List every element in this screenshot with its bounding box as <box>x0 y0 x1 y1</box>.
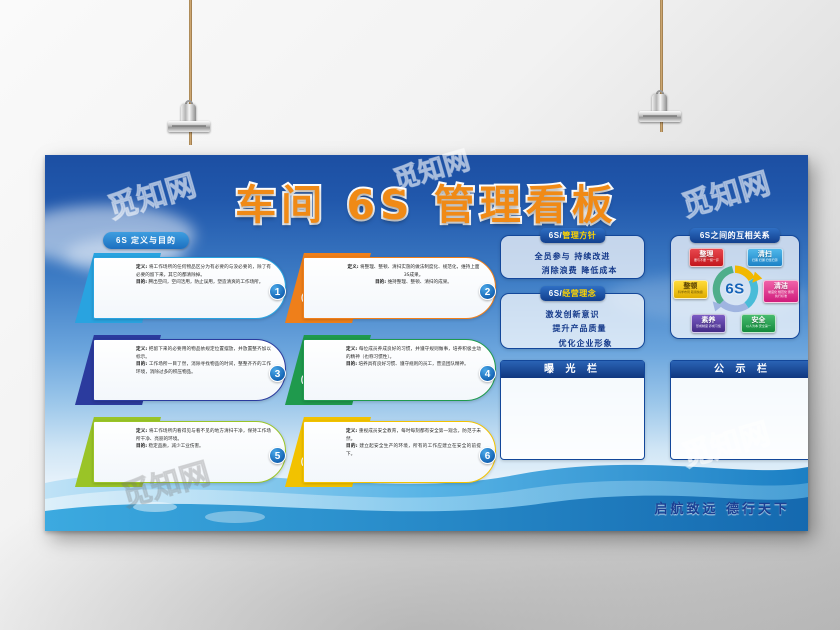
section-tag-definitions: 6S 定义与目的 <box>103 232 189 249</box>
chip-label: 清扫 <box>752 251 778 258</box>
clip-jaw-icon <box>639 111 681 122</box>
bulletin-notice[interactable]: 公 示 栏 <box>670 360 808 460</box>
philosophy-line: 优化企业形象 <box>507 337 638 351</box>
policy-prefix: 6S/ <box>549 231 563 240</box>
item-card-seiri: 定义: 将工作场所的任何物品区分为有必要的与没必要的，除了有必要的留下来，其它的… <box>93 257 286 319</box>
goal-label: 目的: <box>136 362 147 367</box>
bulletin-exposure[interactable]: 曝 光 栏 <box>500 360 645 460</box>
item-card-shitsuke: 定义: 每位成员养成良好的习惯，并遵守规则做事，培养积极主动的精神（也称习惯性）… <box>303 339 496 401</box>
policy-box: 6S/管理方针 全员参与 持续改进 消除浪费 降低成本 <box>500 235 645 279</box>
chip-label: 整理 <box>694 251 719 258</box>
def-label: 定义: <box>346 347 357 352</box>
philosophy-prefix: 6S/ <box>549 289 563 298</box>
item-text: 定义: 每位成员养成良好的习惯，并遵守规则做事，培养积极主动的精神（也称习惯性）… <box>346 346 481 369</box>
chip-label: 清洁 <box>768 283 794 290</box>
philosophy-title: 经营理念 <box>562 289 596 298</box>
chip-label: 整顿 <box>678 283 703 290</box>
relation-chip-seiton[interactable]: 整顿 科学布局 取用快捷 <box>673 280 708 299</box>
relation-diagram-box: 6S之间的互相关系 6S 整理 要与不要 一留一弃 清扫 扫黑 扫漏 扫怪扫源 <box>670 235 800 339</box>
chip-sub: 要与不要 一留一弃 <box>694 259 719 263</box>
relation-chip-shitsuke[interactable]: 素养 形成制度 养成习惯 <box>691 314 726 333</box>
goal-text: 培养具有良好习惯、遵守规则的员工，营造团队精神。 <box>359 362 469 367</box>
def-label: 定义: <box>136 265 147 270</box>
goal-text: 腾出空间，空间活用，防止误用，塑造清爽的工作场所。 <box>149 280 264 285</box>
def-label: 定义: <box>136 429 147 434</box>
philosophy-line: 激发创新意识 <box>507 308 638 322</box>
item-card-seiketsu: 定义: 将整理、整顿、清扫实施的做法制度化、规范化，维持上面3S成果。 目的: … <box>303 257 496 319</box>
item-text: 定义: 将工作场所内看得见与看不见的地方清扫干净，保持工作场所干净、亮丽的环境。… <box>136 428 271 451</box>
goal-text: 稳定品质，减少工业伤害。 <box>149 444 204 449</box>
item-card-seiso: 定义: 将工作场所内看得见与看不见的地方清扫干净，保持工作场所干净、亮丽的环境。… <box>93 421 286 483</box>
poster-board: 车间 6S 管理看板 6S 定义与目的 整理 (SEIRI) 定义: 将工作场所… <box>45 155 808 531</box>
definitions-section: 6S 定义与目的 整理 (SEIRI) 定义: 将工作场所的任何物品区分为有必要… <box>55 230 485 499</box>
chip-sub: 形成制度 养成习惯 <box>696 325 721 329</box>
goal-text: 工作场所一目了然，消除寻找物品的时间，整整齐齐的工作环境，消除过多的积压物品。 <box>136 362 271 375</box>
item-row: 整理 (SEIRI) 定义: 将工作场所的任何物品区分为有必要的与没必要的，除了… <box>55 253 485 327</box>
item-card-security: 定义: 重视成员安全教育，每时每刻都有安全第一观念，防范于未然。 目的: 建立起… <box>303 421 496 483</box>
def-text: 重视成员安全教育，每时每刻都有安全第一观念，防范于未然。 <box>346 429 481 442</box>
chip-sub: 扫黑 扫漏 扫怪扫源 <box>752 259 778 263</box>
policy-line: 全员参与 持续改进 <box>507 250 638 264</box>
def-text: 将整理、整顿、清扫实施的做法制度化、规范化，维持上面3S成果。 <box>360 265 479 278</box>
item-number-badge: 6 <box>479 447 496 464</box>
goal-label: 目的: <box>346 362 357 367</box>
def-text: 将工作场所的任何物品区分为有必要的与没必要的，除了有必要的留下来，其它的都清除掉… <box>136 265 271 278</box>
relation-chip-security[interactable]: 安全 以人为本 安全第一 <box>741 314 776 333</box>
item-text: 定义: 将工作场所的任何物品区分为有必要的与没必要的，除了有必要的留下来，其它的… <box>136 264 271 287</box>
item-number-badge: 5 <box>269 447 286 464</box>
def-text: 把留下来的必要用的物品依规定位置摆放，并放置整齐加以标示。 <box>136 347 271 360</box>
def-label: 定义: <box>136 347 147 352</box>
item-text: 定义: 将整理、整顿、清扫实施的做法制度化、规范化，维持上面3S成果。 目的: … <box>346 264 481 287</box>
philosophy-header: 6S/经营理念 <box>540 286 606 301</box>
item-text: 定义: 重视成员安全教育，每时每刻都有安全第一观念，防范于未然。 目的: 建立起… <box>346 428 481 458</box>
bulletin-title: 曝 光 栏 <box>501 361 644 378</box>
item-row: 清扫 (SEISO) 定义: 将工作场所内看得见与看不见的地方清扫干净，保持工作… <box>55 417 485 491</box>
slogan-text: 启航致远 德行天下 <box>654 498 790 517</box>
relation-chip-seiketsu[interactable]: 清洁 制度化 规范化 贯彻执行标准 <box>763 280 799 303</box>
goal-label: 目的: <box>136 444 147 449</box>
chip-sub: 以人为本 安全第一 <box>746 325 771 329</box>
item-row: 整顿 (SEITON) 定义: 把留下来的必要用的物品依规定位置摆放，并放置整齐… <box>55 335 485 409</box>
item-number-badge: 1 <box>269 283 286 300</box>
goal-text: 维持整理、整顿、清扫的成果。 <box>388 280 452 285</box>
philosophy-box: 6S/经营理念 激发创新意识 提升产品质量 优化企业形象 <box>500 293 645 349</box>
clip-jaw-icon <box>168 121 210 132</box>
poster-title-wrap: 车间 6S 管理看板 <box>45 171 808 231</box>
goal-label: 目的: <box>136 280 147 285</box>
item-card-seiton: 定义: 把留下来的必要用的物品依规定位置摆放，并放置整齐加以标示。 目的: 工作… <box>93 339 286 401</box>
chip-label: 素养 <box>696 317 721 324</box>
item-number-badge: 3 <box>269 365 286 382</box>
chip-sub: 制度化 规范化 贯彻执行标准 <box>768 291 794 299</box>
def-label: 定义: <box>346 429 357 434</box>
policy-title: 管理方针 <box>562 231 596 240</box>
item-text: 定义: 把留下来的必要用的物品依规定位置摆放，并放置整齐加以标示。 目的: 工作… <box>136 346 271 376</box>
relation-chip-seiso[interactable]: 清扫 扫黑 扫漏 扫怪扫源 <box>747 248 783 267</box>
philosophy-line: 提升产品质量 <box>507 322 638 336</box>
relation-chip-seiri[interactable]: 整理 要与不要 一留一弃 <box>689 248 724 267</box>
page-title: 车间 6S 管理看板 <box>235 171 618 231</box>
def-text: 每位成员养成良好的习惯，并遵守规则做事，培养积极主动的精神（也称习惯性）。 <box>346 347 481 360</box>
chip-sub: 科学布局 取用快捷 <box>678 291 703 295</box>
item-number-badge: 2 <box>479 283 496 300</box>
item-number-badge: 4 <box>479 365 496 382</box>
goal-label: 目的: <box>375 280 386 285</box>
goal-text: 建立起安全生产的环境，所有的工作应建立在安全的前提下。 <box>346 444 481 457</box>
goal-label: 目的: <box>346 444 358 449</box>
chip-label: 安全 <box>746 317 771 324</box>
def-label: 定义: <box>348 265 359 270</box>
def-text: 将工作场所内看得见与看不见的地方清扫干净，保持工作场所干净、亮丽的环境。 <box>136 429 271 442</box>
policy-line: 消除浪费 降低成本 <box>507 264 638 278</box>
bulletin-title: 公 示 栏 <box>671 361 808 378</box>
relation-core-label: 6S <box>725 281 744 298</box>
